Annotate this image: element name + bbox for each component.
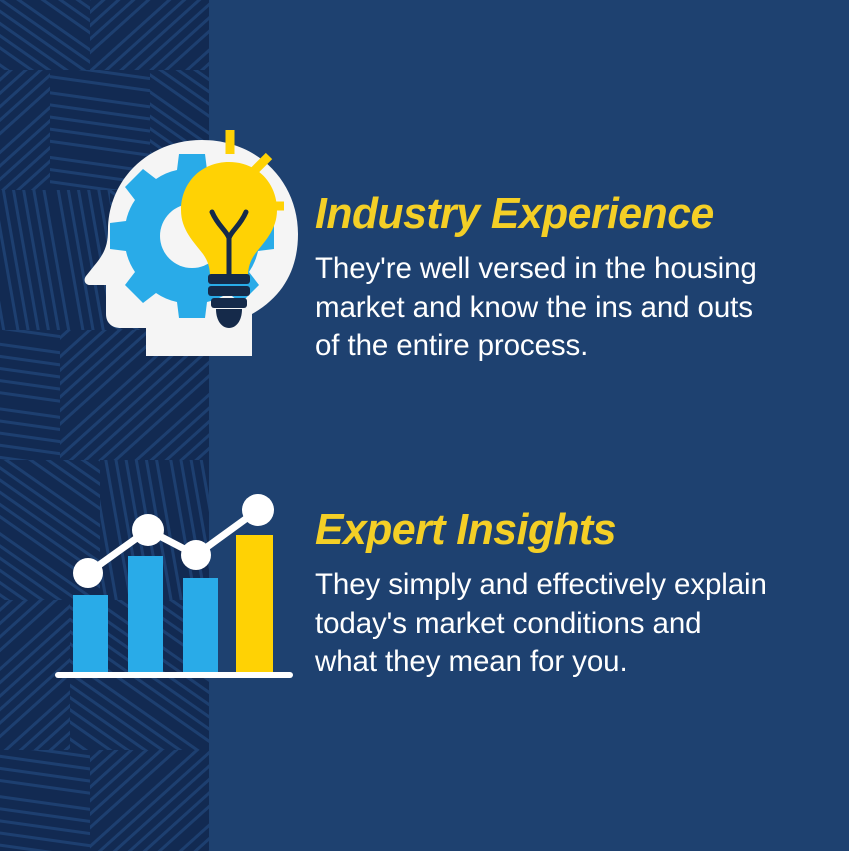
body-line: They're well versed in the housing bbox=[315, 250, 795, 289]
body-industry-experience: They're well versed in the housing marke… bbox=[315, 236, 795, 366]
chart-bars bbox=[73, 535, 273, 673]
bar-chart-line-graph-icon bbox=[50, 488, 300, 688]
body-expert-insights: They simply and effectively explain toda… bbox=[315, 552, 795, 682]
body-line: of the entire process. bbox=[315, 327, 795, 366]
chart-marker-2 bbox=[132, 514, 164, 546]
chart-bar-4 bbox=[236, 535, 273, 673]
body-line: today's market conditions and bbox=[315, 605, 795, 644]
section-industry-experience: Industry Experience They're well versed … bbox=[315, 192, 795, 366]
body-line: market and know the ins and outs bbox=[315, 289, 795, 328]
section-expert-insights: Expert Insights They simply and effectiv… bbox=[315, 508, 795, 682]
chart-bar-3 bbox=[183, 578, 218, 673]
body-line: They simply and effectively explain bbox=[315, 566, 795, 605]
chart-marker-3 bbox=[181, 540, 211, 570]
infographic-canvas: Industry Experience They're well versed … bbox=[0, 0, 849, 851]
chart-bar-2 bbox=[128, 556, 163, 673]
head-gear-lightbulb-icon bbox=[84, 118, 314, 358]
chart-marker-4 bbox=[242, 494, 274, 526]
chart-trend-line bbox=[88, 510, 258, 573]
chart-bar-1 bbox=[73, 595, 108, 673]
body-line: what they mean for you. bbox=[315, 643, 795, 682]
chart-marker-1 bbox=[73, 558, 103, 588]
headline-expert-insights: Expert Insights bbox=[315, 508, 781, 552]
headline-industry-experience: Industry Experience bbox=[315, 192, 781, 236]
